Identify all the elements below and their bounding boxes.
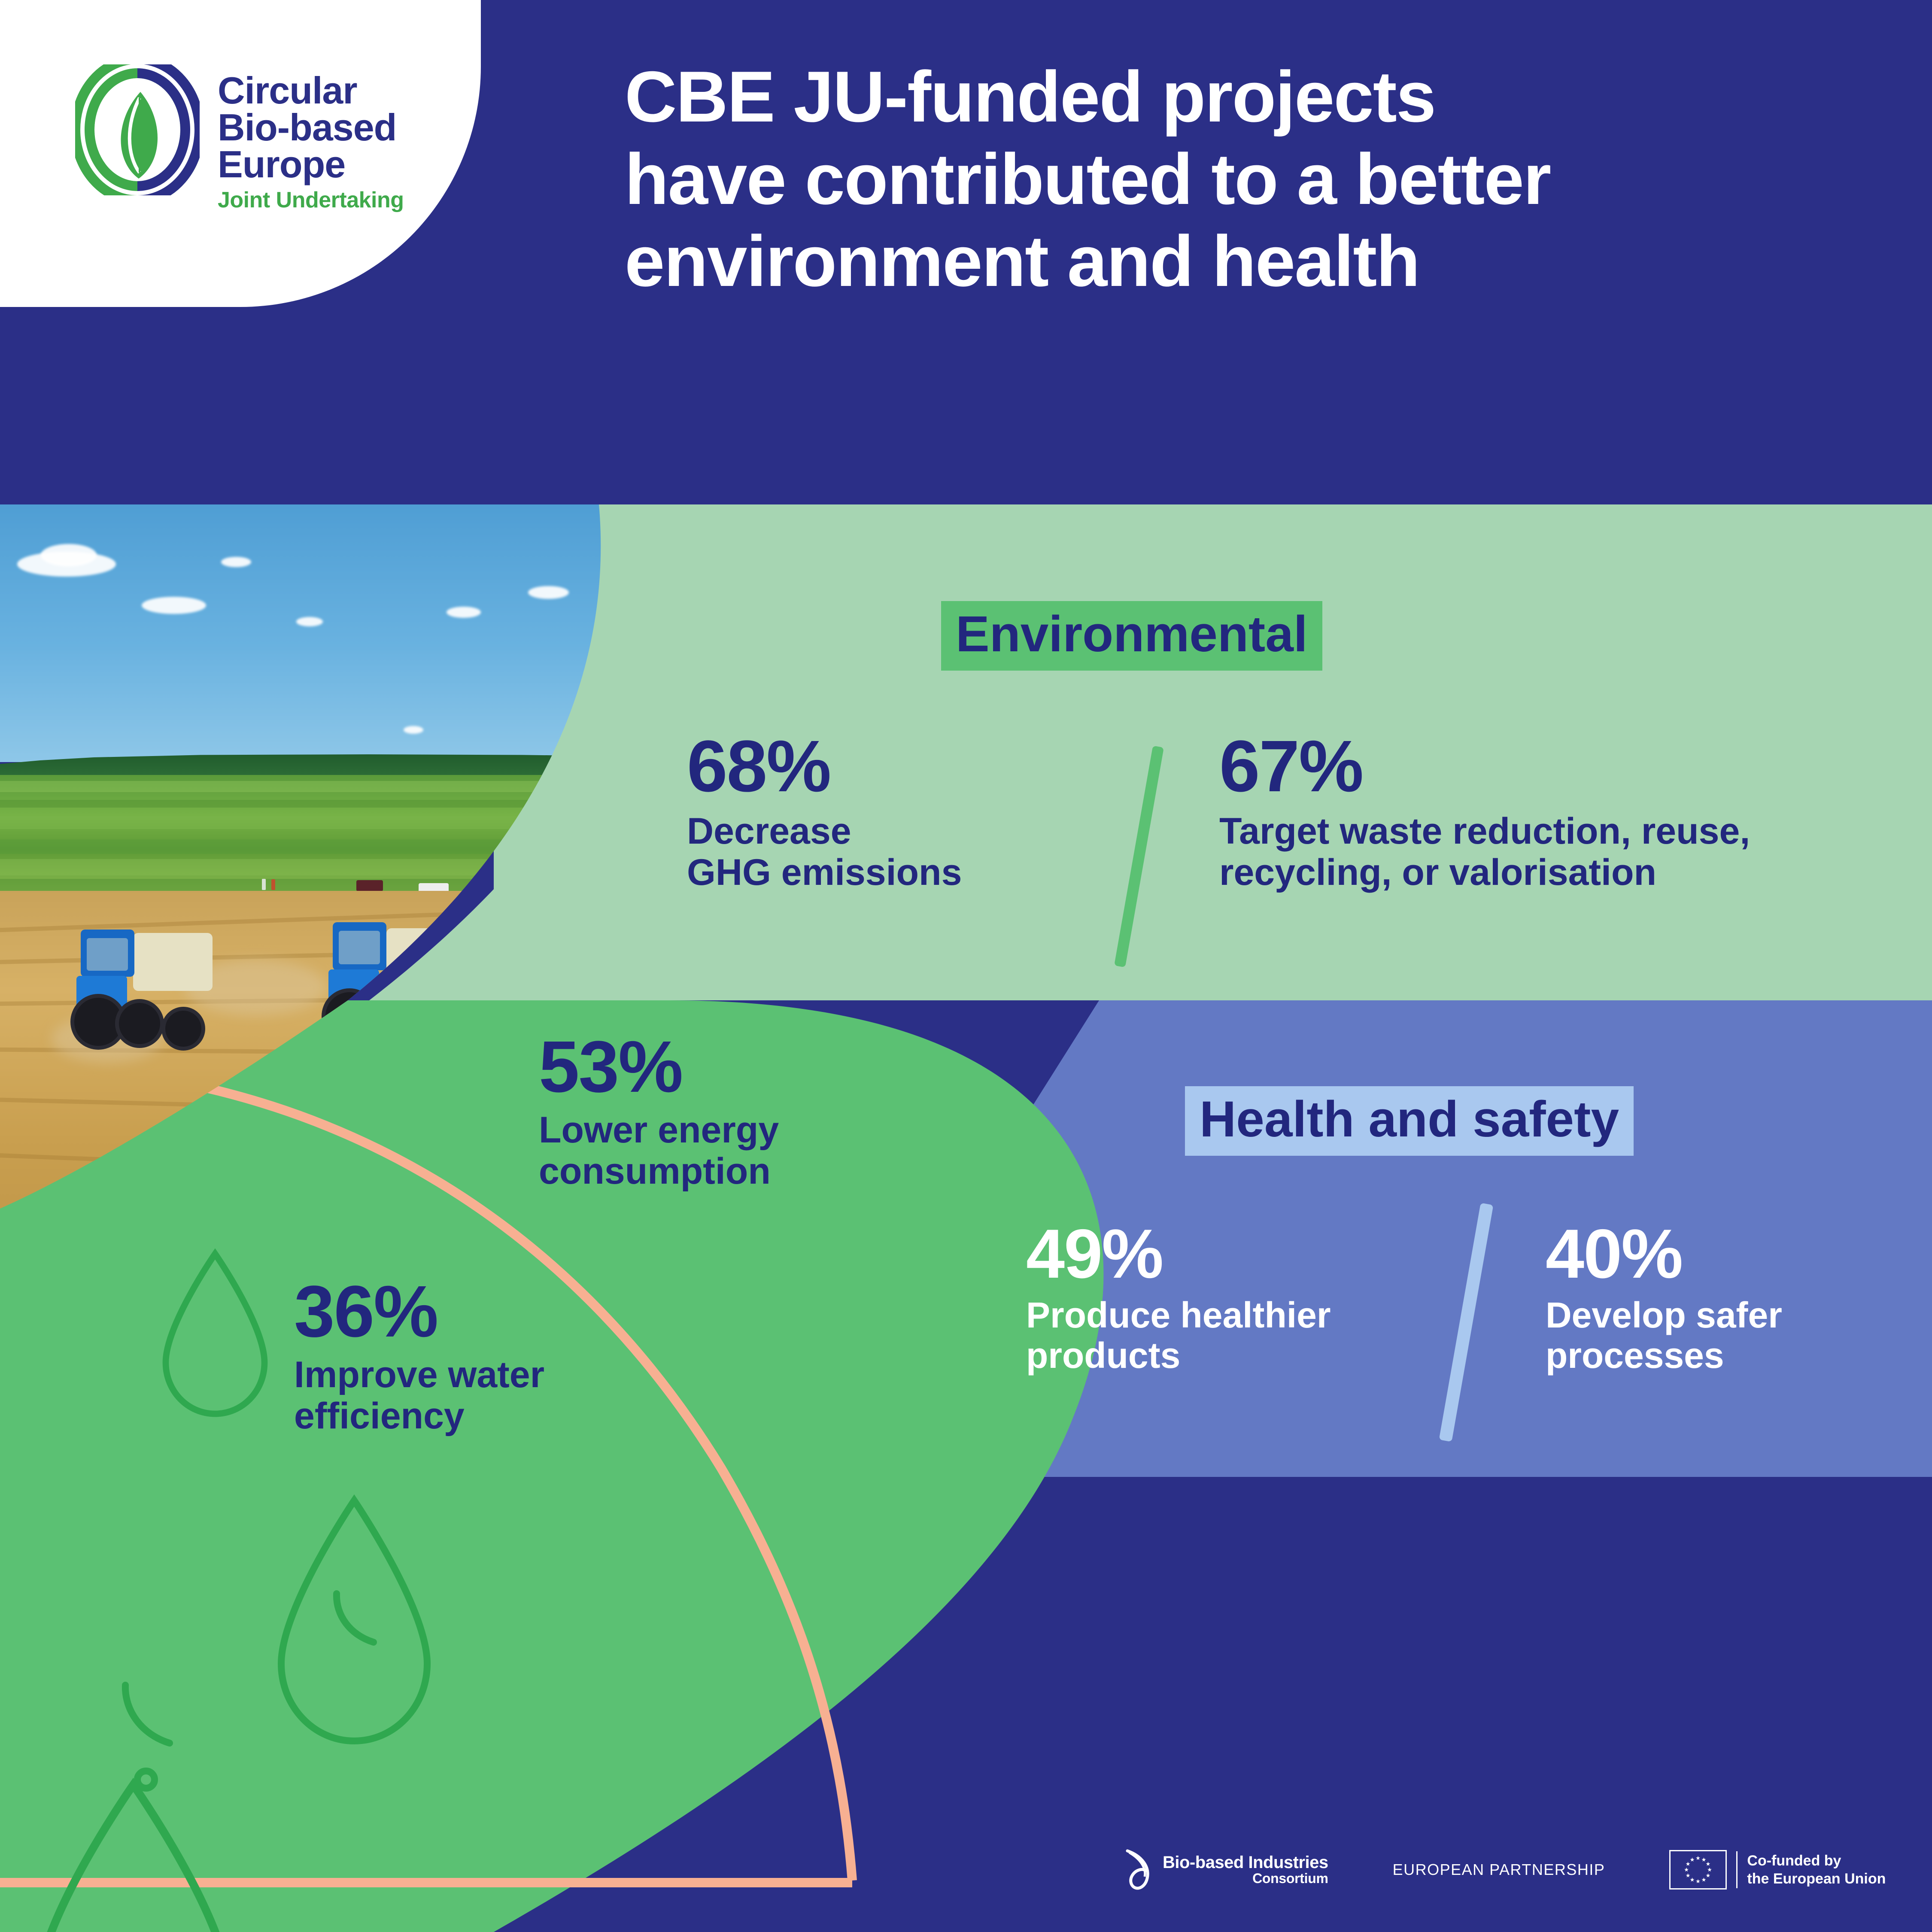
stat-decrease-ghg: 68% Decrease GHG emissions (687, 730, 1043, 893)
eu-line-2: the European Union (1747, 1870, 1886, 1888)
stat-produce-healthier: 49% Produce healthier products (1026, 1219, 1447, 1376)
header-bar: Circular Bio-based Europe Joint Undertak… (0, 0, 1932, 504)
stat-value: 53% (539, 1030, 925, 1103)
footer-logos: Bio-based Industries Consortium EUROPEAN… (1125, 1838, 1886, 1902)
stat-develop-safer: 40% Develop safer processes (1546, 1219, 1932, 1376)
stat-lower-energy: 53% Lower energy consumption (539, 1030, 925, 1192)
stat-label-line-2: efficiency (294, 1395, 680, 1437)
stat-label-line-1: Target waste reduction, reuse, (1219, 811, 1889, 852)
stat-value: 36% (294, 1275, 680, 1348)
european-partnership-label: EUROPEAN PARTNERSHIP (1393, 1861, 1605, 1879)
infographic-canvas: Circular Bio-based Europe Joint Undertak… (0, 0, 1932, 1932)
stat-label-line-2: processes (1546, 1335, 1932, 1376)
stat-label-line-2: GHG emissions (687, 852, 1043, 893)
eu-funding-logo: Co-funded by the European Union (1669, 1850, 1886, 1889)
stat-label-line-1: Develop safer (1546, 1295, 1932, 1335)
title-line-1: CBE JU-funded projects (625, 56, 1870, 138)
circular-leaf-logo-icon (75, 64, 200, 195)
stat-label-line-2: recycling, or valorisation (1219, 852, 1889, 893)
stat-label-line-1: Produce healthier (1026, 1295, 1447, 1335)
bbi-wordmark: Bio-based Industries Consortium (1163, 1853, 1328, 1886)
bbi-line-2: Consortium (1163, 1871, 1328, 1886)
stat-value: 68% (687, 730, 1043, 803)
stat-improve-water: 36% Improve water efficiency (294, 1275, 680, 1437)
stat-value: 67% (1219, 730, 1889, 803)
environmental-section-badge: Environmental (941, 601, 1322, 671)
logo-wordmark: Circular Bio-based Europe Joint Undertak… (218, 64, 404, 217)
stat-label-line-1: Improve water (294, 1354, 680, 1395)
logo-line-3: Europe (218, 146, 404, 183)
stat-label-line-1: Lower energy (539, 1109, 925, 1151)
page-title: CBE JU-funded projects have contributed … (625, 56, 1870, 303)
stat-label-line-1: Decrease (687, 811, 1043, 852)
stat-value: 49% (1026, 1219, 1447, 1289)
stat-label-line-2: consumption (539, 1151, 925, 1192)
stat-value: 40% (1546, 1219, 1932, 1289)
health-safety-section-badge: Health and safety (1185, 1086, 1634, 1156)
title-line-2: have contributed to a better (625, 138, 1870, 221)
title-line-3: environment and health (625, 220, 1870, 303)
eu-line-1: Co-funded by (1747, 1852, 1886, 1870)
logo-line-1: Circular (218, 72, 404, 109)
bbi-line-1: Bio-based Industries (1163, 1853, 1328, 1871)
eu-divider (1736, 1851, 1738, 1888)
eu-flag-stars-icon (1669, 1850, 1727, 1889)
bbi-logo: Bio-based Industries Consortium (1125, 1848, 1328, 1891)
stat-target-waste-reduction: 67% Target waste reduction, reuse, recyc… (1219, 730, 1889, 893)
logo-line-2: Bio-based (218, 109, 404, 146)
logo-card: Circular Bio-based Europe Joint Undertak… (0, 0, 481, 307)
tractor-left (64, 925, 206, 1054)
eu-funding-text: Co-funded by the European Union (1747, 1852, 1886, 1888)
bbi-leaf-icon (1125, 1848, 1153, 1891)
logo-line-4: Joint Undertaking (218, 183, 404, 217)
stat-label-line-2: products (1026, 1335, 1447, 1376)
